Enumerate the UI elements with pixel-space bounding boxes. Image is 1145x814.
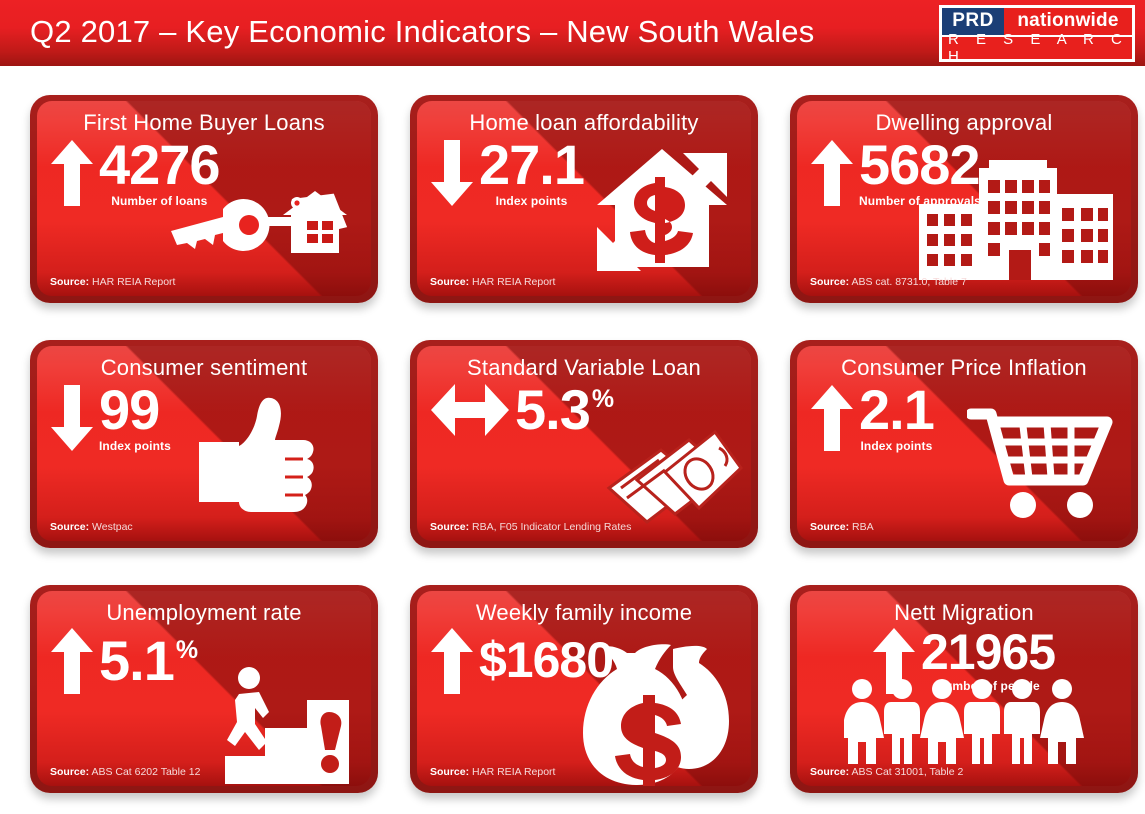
card-value-line: 99 [99, 383, 171, 436]
card-value-block: 5.1 % [99, 634, 198, 687]
card-source-text: RBA [852, 521, 874, 533]
prd-nationwide-logo: PRD nationwide R E S E A R C H [939, 5, 1135, 62]
trend-up-arrow-icon [51, 628, 93, 694]
trend-down-arrow-icon [431, 140, 473, 206]
trend-down-arrow-icon [51, 385, 93, 451]
card-face: First Home Buyer Loans 4276 Number of lo… [37, 101, 371, 296]
money-bags-icon [577, 629, 737, 786]
card-source-text: HAR REIA Report [92, 276, 175, 288]
card-title: Weekly family income [417, 591, 751, 626]
card-source: Source: HAR REIA Report [430, 276, 555, 288]
trend-up-arrow-icon [811, 385, 853, 451]
card-title: Standard Variable Loan [417, 346, 751, 381]
card-source-label: Source: [50, 276, 89, 288]
indicator-card: First Home Buyer Loans 4276 Number of lo… [30, 95, 378, 303]
person-stairs-icon [225, 666, 365, 784]
card-title: Unemployment rate [37, 591, 371, 626]
card-source-label: Source: [430, 521, 469, 533]
card-face: Consumer Price Inflation 2.1 Index point… [797, 346, 1131, 541]
indicator-card: Weekly family income $1680 [410, 585, 758, 793]
card-face: Standard Variable Loan 5.3 % [417, 346, 751, 541]
card-source-label: Source: [50, 766, 89, 778]
page-title: Q2 2017 – Key Economic Indicators – New … [30, 16, 814, 51]
card-value: 5.1 [99, 634, 174, 687]
card-title: Home loan affordability [417, 101, 751, 136]
card-face: Consumer sentiment 99 Index points [37, 346, 371, 541]
card-value-line: 27.1 [479, 138, 584, 191]
indicator-card: Nett Migration 21965 Number of people [790, 585, 1138, 793]
card-source-text: ABS Cat 31001, Table 2 [851, 766, 963, 778]
card-source-text: ABS cat. 8731.0, Table 7 [851, 276, 966, 288]
card-source-text: Westpac [92, 521, 133, 533]
card-source-label: Source: [50, 521, 89, 533]
card-source-text: HAR REIA Report [472, 276, 555, 288]
card-source: Source: ABS cat. 8731.0, Table 7 [810, 276, 967, 288]
card-title: Dwelling approval [797, 101, 1131, 136]
card-value: 5.3 [515, 383, 590, 436]
card-source: Source: ABS Cat 6202 Table 12 [50, 766, 200, 778]
card-face: Unemployment rate 5.1 % [37, 591, 371, 786]
card-source-label: Source: [810, 766, 849, 778]
card-value-suffix: % [176, 638, 198, 663]
indicator-card: Consumer Price Inflation 2.1 Index point… [790, 340, 1138, 548]
thumbs-up-icon [199, 394, 319, 514]
card-source-text: ABS Cat 6202 Table 12 [91, 766, 200, 778]
card-title: Consumer Price Inflation [797, 346, 1131, 381]
banknotes-icon [603, 426, 743, 531]
card-value: 99 [99, 383, 159, 436]
indicator-card: Consumer sentiment 99 Index points [30, 340, 378, 548]
card-source-text: HAR REIA Report [472, 766, 555, 778]
card-sublabel: Index points [479, 194, 584, 208]
card-source: Source: RBA, F05 Indicator Lending Rates [430, 521, 631, 533]
card-value-suffix: % [592, 387, 614, 412]
card-sublabel: Index points [99, 439, 171, 453]
card-title: First Home Buyer Loans [37, 101, 371, 136]
infographic-page: Q2 2017 – Key Economic Indicators – New … [0, 0, 1145, 814]
card-source: Source: Westpac [50, 521, 133, 533]
shopping-cart-icon [967, 398, 1117, 523]
card-value-line: 5.1 % [99, 634, 198, 687]
house-key-icon [163, 169, 353, 274]
card-title: Consumer sentiment [37, 346, 371, 381]
indicator-card: Dwelling approval 5682 Number of approva… [790, 95, 1138, 303]
card-value-block: 2.1 Index points [859, 383, 934, 453]
card-value: 27.1 [479, 138, 584, 191]
indicator-card: Standard Variable Loan 5.3 % [410, 340, 758, 548]
house-dollar-arrows-icon [587, 143, 737, 281]
indicator-grid: First Home Buyer Loans 4276 Number of lo… [30, 95, 1122, 793]
card-value-block: 27.1 Index points [479, 138, 584, 208]
card-source-label: Source: [810, 276, 849, 288]
indicator-card: Unemployment rate 5.1 % [30, 585, 378, 793]
trend-up-arrow-icon [51, 140, 93, 206]
card-face: Home loan affordability 27.1 Index point… [417, 101, 751, 296]
card-sublabel: Index points [859, 439, 934, 453]
logo-division: R E S E A R C H [942, 37, 1132, 59]
card-source: Source: ABS Cat 31001, Table 2 [810, 766, 963, 778]
card-face: Nett Migration 21965 Number of people [797, 591, 1131, 786]
card-value-block: 5.3 % [515, 383, 614, 436]
people-group-icon [844, 678, 1084, 764]
card-value-line: 21965 [921, 629, 1055, 677]
apartment-buildings-icon [919, 158, 1117, 280]
card-source-label: Source: [810, 521, 849, 533]
card-face: Dwelling approval 5682 Number of approva… [797, 101, 1131, 296]
trend-flat-arrow-icon [431, 384, 509, 436]
card-value-block: 99 Index points [99, 383, 171, 453]
card-value: 21965 [921, 629, 1055, 677]
card-title: Nett Migration [797, 591, 1131, 626]
card-value: 2.1 [859, 383, 934, 436]
card-face: Weekly family income $1680 [417, 591, 751, 786]
page-header: Q2 2017 – Key Economic Indicators – New … [0, 0, 1145, 66]
card-source: Source: HAR REIA Report [50, 276, 175, 288]
card-value-line: 5.3 % [515, 383, 614, 436]
trend-up-arrow-icon [431, 628, 473, 694]
card-source: Source: HAR REIA Report [430, 766, 555, 778]
card-source-text: RBA, F05 Indicator Lending Rates [472, 521, 631, 533]
indicator-card: Home loan affordability 27.1 Index point… [410, 95, 758, 303]
card-source-label: Source: [430, 276, 469, 288]
card-value-line: 2.1 [859, 383, 934, 436]
card-source-label: Source: [430, 766, 469, 778]
card-source: Source: RBA [810, 521, 874, 533]
trend-up-arrow-icon [811, 140, 853, 206]
